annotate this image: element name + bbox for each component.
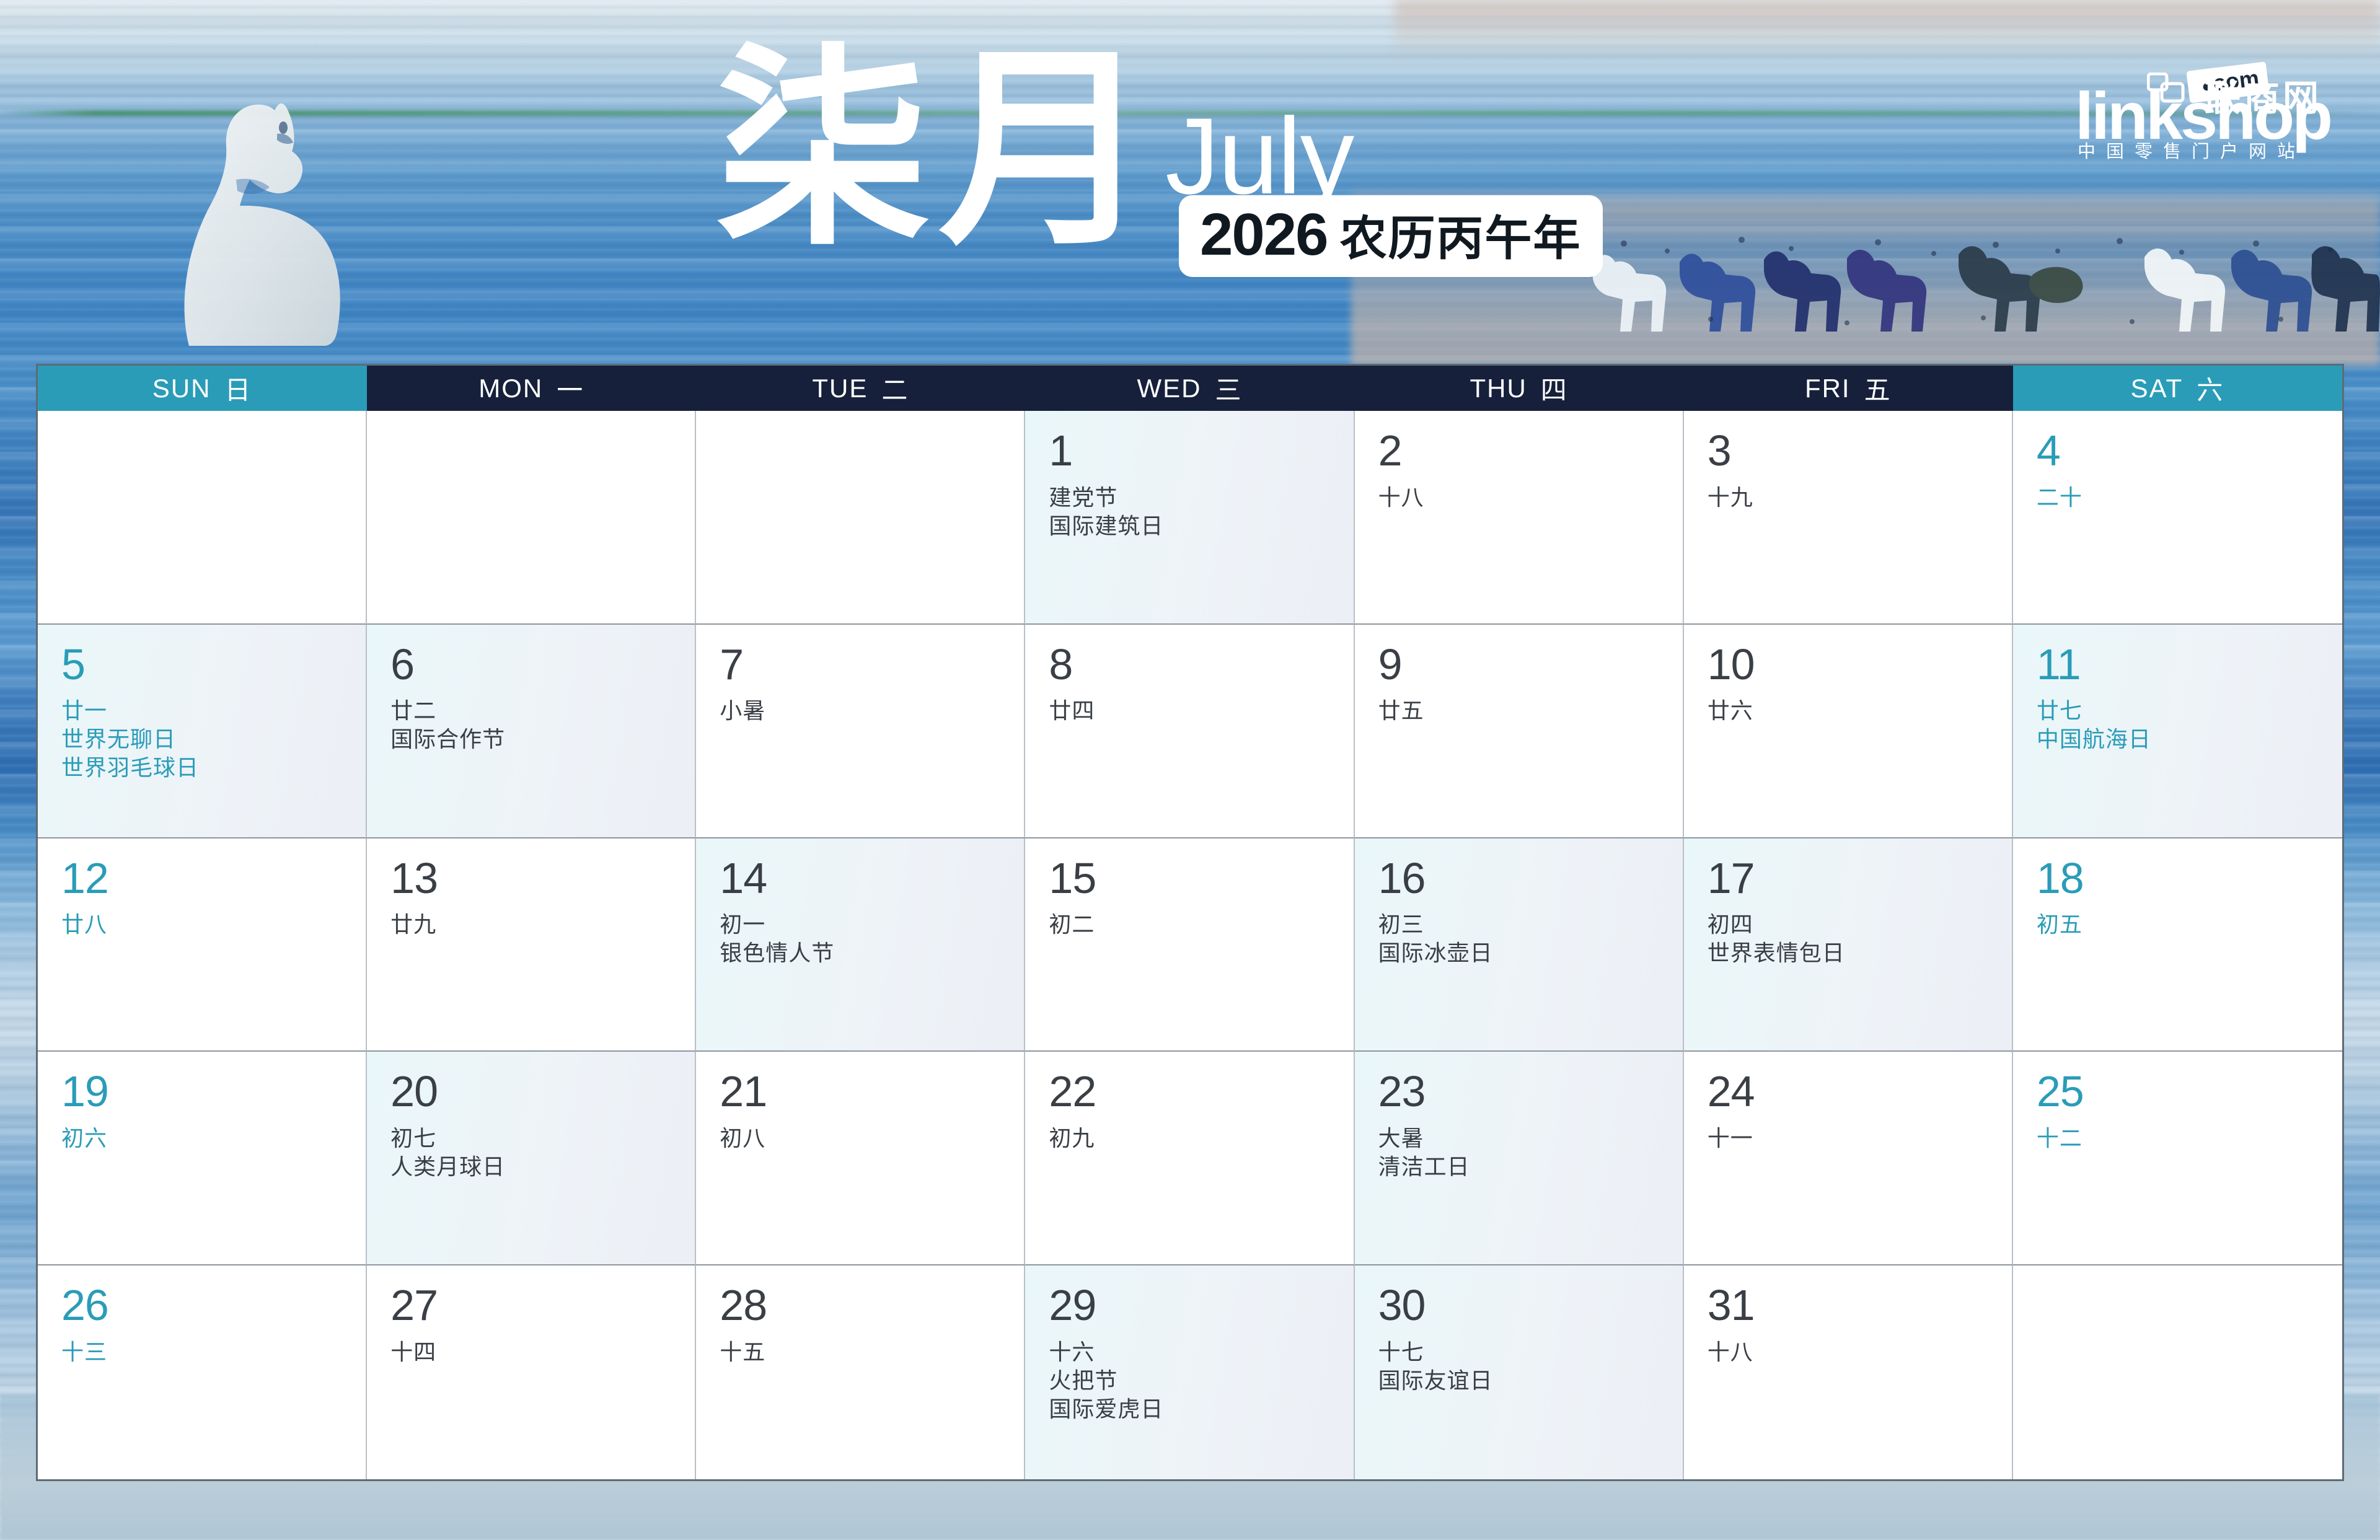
lunar-year-label: 农历丙午年 — [1340, 215, 1582, 262]
day-cell-9[interactable]: 9廿五 — [1355, 625, 1684, 838]
day-cell-27[interactable]: 27十四 — [367, 1265, 696, 1479]
festival-label: 国际爱虎日 — [1049, 1396, 1353, 1424]
lunar-date-label: 十四 — [390, 1339, 695, 1367]
day-number: 20 — [390, 1069, 695, 1115]
weekday-header-fri: FRI五 — [1684, 366, 2013, 411]
lunar-date-label: 廿八 — [61, 911, 366, 939]
day-number: 13 — [390, 856, 695, 902]
lunar-date-label: 廿一 — [61, 697, 366, 726]
day-cell-12[interactable]: 12廿八 — [38, 838, 367, 1052]
lunar-date-label: 十一 — [1708, 1125, 2012, 1153]
month-title-english: July — [1165, 102, 1353, 211]
festival-label: 国际友谊日 — [1378, 1367, 1683, 1396]
day-cell-28[interactable]: 28十五 — [696, 1265, 1025, 1479]
lunar-date-label: 小暑 — [720, 697, 1024, 726]
day-number: 10 — [1708, 642, 2012, 688]
day-number: 18 — [2037, 856, 2342, 902]
weekday-header-wed: WED三 — [1025, 366, 1354, 411]
calendar-header: 柒月 July 2026 农历丙午年 linkshop com 联商网 中国零售… — [0, 0, 2380, 364]
lunar-date-label: 初九 — [1049, 1125, 1353, 1153]
day-number: 25 — [2037, 1069, 2342, 1115]
lunar-date-label: 初七 — [390, 1125, 695, 1153]
weekday-en: SAT — [2131, 374, 2184, 403]
lunar-date-label: 廿六 — [1708, 697, 2012, 726]
day-number: 3 — [1708, 428, 2012, 474]
day-number: 14 — [720, 856, 1024, 902]
weekday-en: FRI — [1805, 374, 1851, 403]
day-cell-11[interactable]: 11廿七中国航海日 — [2013, 625, 2342, 838]
weekday-header-tue: TUE二 — [696, 366, 1025, 411]
day-number: 30 — [1378, 1283, 1683, 1329]
festival-label: 国际冰壶日 — [1378, 939, 1683, 968]
weekday-en: MON — [478, 374, 543, 403]
day-cell-14[interactable]: 14初一银色情人节 — [696, 838, 1025, 1052]
day-number: 27 — [390, 1283, 695, 1329]
day-cell-17[interactable]: 17初四世界表情包日 — [1684, 838, 2013, 1052]
day-cell-22[interactable]: 22初九 — [1025, 1052, 1354, 1265]
lunar-date-label: 廿四 — [1049, 697, 1353, 726]
day-cell-18[interactable]: 18初五 — [2013, 838, 2342, 1052]
day-cell-empty — [38, 411, 367, 625]
festival-label: 世界羽毛球日 — [61, 754, 366, 783]
day-cell-23[interactable]: 23大暑清洁工日 — [1355, 1052, 1684, 1265]
weekday-header-sun: SUN日 — [38, 366, 367, 411]
lunar-date-label: 十三 — [61, 1339, 366, 1367]
lunar-date-label: 十九 — [1708, 484, 2012, 513]
festival-label: 世界无聊日 — [61, 726, 366, 754]
weekday-cn: 二 — [881, 369, 909, 407]
festival-label: 中国航海日 — [2037, 726, 2342, 754]
year-number: 2026 — [1200, 205, 1328, 265]
day-cell-3[interactable]: 3十九 — [1684, 411, 2013, 625]
day-number: 4 — [2037, 428, 2342, 474]
lunar-date-label: 初八 — [720, 1125, 1024, 1153]
day-cell-6[interactable]: 6廿二国际合作节 — [367, 625, 696, 838]
day-cell-empty — [367, 411, 696, 625]
calendar-grid: SUN日MON一TUE二WED三THU四FRI五SAT六 1建党节国际建筑日2十… — [36, 364, 2344, 1481]
weekday-en: THU — [1470, 374, 1527, 403]
day-cell-7[interactable]: 7小暑 — [696, 625, 1025, 838]
month-title-chinese: 柒月 — [716, 43, 1161, 257]
linkshop-logo[interactable]: linkshop com 联商网 中国零售门户网站 — [2075, 65, 2323, 155]
day-cell-4[interactable]: 4二十 — [2013, 411, 2342, 625]
lunar-date-label: 十五 — [720, 1339, 1024, 1367]
weekday-cn: 一 — [557, 369, 584, 407]
lunar-date-label: 初二 — [1049, 911, 1353, 939]
weekday-cn: 三 — [1215, 369, 1243, 407]
lunar-date-label: 初四 — [1708, 911, 2012, 939]
day-number: 6 — [390, 642, 695, 688]
lunar-date-label: 大暑 — [1378, 1125, 1683, 1153]
lunar-date-label: 二十 — [2037, 484, 2342, 513]
day-cell-2[interactable]: 2十八 — [1355, 411, 1684, 625]
lunar-date-label: 十八 — [1708, 1339, 2012, 1367]
day-cell-8[interactable]: 8廿四 — [1025, 625, 1354, 838]
festival-label: 火把节 — [1049, 1367, 1353, 1396]
lunar-date-label: 初六 — [61, 1125, 366, 1153]
day-number: 7 — [720, 642, 1024, 688]
weekday-header-row: SUN日MON一TUE二WED三THU四FRI五SAT六 — [38, 366, 2342, 411]
day-number: 5 — [61, 642, 366, 688]
festival-label: 银色情人节 — [720, 939, 1024, 968]
day-number: 8 — [1049, 642, 1353, 688]
weekday-en: SUN — [152, 374, 211, 403]
festival-label: 国际建筑日 — [1049, 513, 1353, 541]
weekday-header-sat: SAT六 — [2013, 366, 2342, 411]
lunar-date-label: 初三 — [1378, 911, 1683, 939]
day-number: 28 — [720, 1283, 1024, 1329]
festival-label: 建党节 — [1049, 484, 1353, 513]
weekday-header-thu: THU四 — [1355, 366, 1684, 411]
day-cell-25[interactable]: 25十二 — [2013, 1052, 2342, 1265]
logo-chinese-name: 联商网 — [2205, 80, 2322, 116]
day-number: 9 — [1378, 642, 1683, 688]
day-number: 29 — [1049, 1283, 1353, 1329]
day-number: 15 — [1049, 856, 1353, 902]
weekday-en: WED — [1137, 374, 1201, 403]
lunar-date-label: 十八 — [1378, 484, 1683, 513]
day-cell-20[interactable]: 20初七人类月球日 — [367, 1052, 696, 1265]
day-cell-empty — [2013, 1265, 2342, 1479]
lunar-date-label: 初一 — [720, 911, 1024, 939]
lunar-date-label: 十七 — [1378, 1339, 1683, 1367]
day-number: 23 — [1378, 1069, 1683, 1115]
calendar-week-row: 5廿一世界无聊日世界羽毛球日6廿二国际合作节7小暑8廿四9廿五10廿六11廿七中… — [38, 625, 2342, 838]
day-number: 31 — [1708, 1283, 2012, 1329]
day-cell-29[interactable]: 29十六火把节国际爱虎日 — [1025, 1265, 1354, 1479]
day-number: 17 — [1708, 856, 2012, 902]
calendar-week-row: 1建党节国际建筑日2十八3十九4二十 — [38, 411, 2342, 625]
day-number: 24 — [1708, 1069, 2012, 1115]
year-badge: 2026 农历丙午年 — [1179, 195, 1603, 277]
day-cell-24[interactable]: 24十一 — [1684, 1052, 2013, 1265]
day-number: 2 — [1378, 428, 1683, 474]
day-cell-empty — [696, 411, 1025, 625]
lunar-date-label: 廿二 — [390, 697, 695, 726]
weekday-cn: 五 — [1864, 369, 1892, 407]
lunar-date-label: 廿七 — [2037, 697, 2342, 726]
weekday-cn: 日 — [224, 369, 252, 407]
day-number: 21 — [720, 1069, 1024, 1115]
day-cell-13[interactable]: 13廿九 — [367, 838, 696, 1052]
day-number: 11 — [2037, 642, 2342, 688]
day-number: 19 — [61, 1069, 366, 1115]
calendar-week-row: 19初六20初七人类月球日21初八22初九23大暑清洁工日24十一25十二 — [38, 1052, 2342, 1265]
festival-label: 世界表情包日 — [1708, 939, 2012, 968]
lunar-date-label: 初五 — [2037, 911, 2342, 939]
festival-label: 清洁工日 — [1378, 1153, 1683, 1182]
day-cell-15[interactable]: 15初二 — [1025, 838, 1354, 1052]
lunar-date-label: 十六 — [1049, 1339, 1353, 1367]
day-number: 16 — [1378, 856, 1683, 902]
day-cell-16[interactable]: 16初三国际冰壶日 — [1355, 838, 1684, 1052]
festival-label: 人类月球日 — [390, 1153, 695, 1182]
day-cell-10[interactable]: 10廿六 — [1684, 625, 2013, 838]
day-cell-26[interactable]: 26十三 — [38, 1265, 367, 1479]
lunar-date-label: 廿五 — [1378, 697, 1683, 726]
weekday-cn: 六 — [2197, 369, 2224, 407]
calendar-week-row: 12廿八13廿九14初一银色情人节15初二16初三国际冰壶日17初四世界表情包日… — [38, 838, 2342, 1052]
day-cell-21[interactable]: 21初八 — [696, 1052, 1025, 1265]
lunar-date-label: 十二 — [2037, 1125, 2342, 1153]
logo-tagline: 中国零售门户网站 — [2078, 137, 2306, 163]
lunar-date-label: 廿九 — [390, 911, 695, 939]
weekday-cn: 四 — [1541, 369, 1569, 407]
day-cell-31[interactable]: 31十八 — [1684, 1265, 2013, 1479]
day-number: 26 — [61, 1283, 366, 1329]
day-number: 1 — [1049, 428, 1353, 474]
calendar-weeks: 1建党节国际建筑日2十八3十九4二十5廿一世界无聊日世界羽毛球日6廿二国际合作节… — [38, 411, 2342, 1479]
day-cell-19[interactable]: 19初六 — [38, 1052, 367, 1265]
calendar-week-row: 26十三27十四28十五29十六火把节国际爱虎日30十七国际友谊日31十八 — [38, 1265, 2342, 1479]
day-number: 22 — [1049, 1069, 1353, 1115]
weekday-header-mon: MON一 — [367, 366, 696, 411]
festival-label: 国际合作节 — [390, 726, 695, 754]
day-cell-30[interactable]: 30十七国际友谊日 — [1355, 1265, 1684, 1479]
weekday-en: TUE — [812, 374, 868, 403]
day-number: 12 — [61, 856, 366, 902]
day-cell-1[interactable]: 1建党节国际建筑日 — [1025, 411, 1354, 625]
day-cell-5[interactable]: 5廿一世界无聊日世界羽毛球日 — [38, 625, 367, 838]
